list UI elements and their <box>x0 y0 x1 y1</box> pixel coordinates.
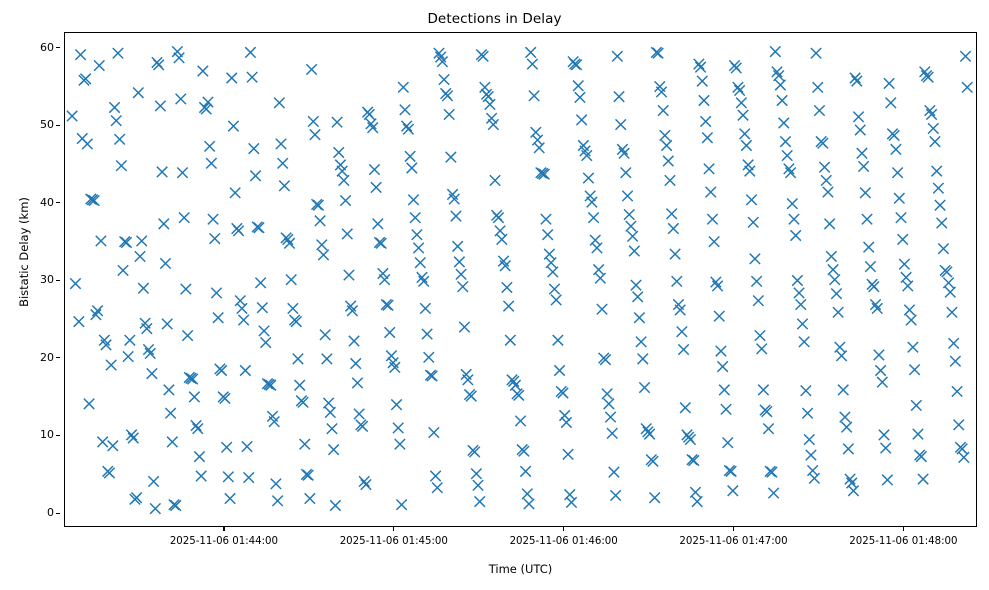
scatter-marker <box>894 193 904 203</box>
scatter-marker <box>906 315 916 325</box>
scatter-marker <box>137 236 147 246</box>
scatter-marker <box>403 124 413 134</box>
scatter-marker <box>626 221 636 231</box>
scatter-marker <box>373 219 383 229</box>
scatter-marker <box>658 105 668 115</box>
scatter-marker <box>417 272 427 282</box>
scatter-marker <box>746 195 756 205</box>
scatter-marker <box>429 427 439 437</box>
scatter-marker <box>189 392 199 402</box>
scatter-marker <box>605 412 615 422</box>
scatter-marker <box>339 175 349 185</box>
scatter-marker <box>785 167 795 177</box>
scatter-marker <box>118 265 128 275</box>
scatter-marker <box>113 48 123 58</box>
scatter-marker <box>804 434 814 444</box>
scatter-marker <box>813 82 823 92</box>
scatter-marker <box>143 344 153 354</box>
scatter-marker <box>531 127 541 137</box>
scatter-marker <box>249 143 259 153</box>
x-tick-mark <box>223 527 224 531</box>
scatter-marker <box>792 275 802 285</box>
scatter-marker <box>490 175 500 185</box>
scatter-marker <box>391 399 401 409</box>
scatter-marker <box>774 70 784 80</box>
x-axis-label: Time (UTC) <box>64 562 977 576</box>
scatter-marker <box>638 354 648 364</box>
scatter-marker <box>881 443 891 453</box>
scatter-marker <box>223 472 233 482</box>
scatter-marker <box>393 423 403 433</box>
scatter-marker <box>862 214 872 224</box>
scatter-marker <box>726 466 736 476</box>
scatter-marker <box>208 214 218 224</box>
scatter-marker <box>274 98 284 108</box>
scatter-marker <box>864 242 874 252</box>
scatter-marker <box>566 497 576 507</box>
scatter-marker <box>636 337 646 347</box>
scatter-marker <box>763 423 773 433</box>
scatter-marker <box>610 490 620 500</box>
scatter-marker <box>799 337 809 347</box>
scatter-marker <box>327 423 337 433</box>
scatter-marker <box>432 482 442 492</box>
scatter-marker <box>757 344 767 354</box>
scatter-marker <box>420 303 430 313</box>
scatter-marker <box>650 493 660 503</box>
scatter-marker <box>678 344 688 354</box>
scatter-marker <box>838 385 848 395</box>
scatter-marker <box>198 66 208 76</box>
scatter-marker <box>502 282 512 292</box>
scatter-marker <box>952 386 962 396</box>
scatter-marker <box>308 116 318 126</box>
scatter-marker <box>548 267 558 277</box>
scatter-marker <box>410 212 420 222</box>
scatter-marker <box>181 284 191 294</box>
scatter-marker <box>529 91 539 101</box>
scatter-marker <box>386 351 396 361</box>
scatter-marker <box>70 278 80 288</box>
scatter-marker <box>926 109 936 119</box>
scatter-marker <box>602 389 612 399</box>
y-axis-label: Bistatic Delay (km) <box>17 132 31 372</box>
scatter-marker <box>475 496 485 506</box>
scatter-marker <box>546 257 556 267</box>
scatter-marker <box>595 273 605 283</box>
scatter-marker <box>860 188 870 198</box>
scatter-marker <box>670 249 680 259</box>
scatter-marker <box>303 470 313 480</box>
scatter-marker <box>473 480 483 490</box>
scatter-marker <box>694 59 704 69</box>
scatter-marker <box>361 479 371 489</box>
scatter-marker <box>931 166 941 176</box>
scatter-marker <box>162 319 172 329</box>
scatter-marker <box>245 47 255 57</box>
scatter-marker <box>947 307 957 317</box>
scatter-marker <box>427 371 437 381</box>
scatter-marker <box>242 441 252 451</box>
scatter-marker <box>109 102 119 112</box>
scatter-marker <box>811 48 821 58</box>
y-tick-label: 20 <box>14 352 54 363</box>
scatter-marker <box>503 301 513 311</box>
scatter-marker <box>831 288 841 298</box>
scatter-marker <box>796 299 806 309</box>
y-tick-mark <box>56 513 60 514</box>
scatter-marker <box>405 151 415 161</box>
scatter-marker <box>320 330 330 340</box>
scatter-marker <box>909 365 919 375</box>
scatter-marker <box>573 81 583 91</box>
scatter-marker <box>415 257 425 267</box>
scatter-marker <box>145 348 155 358</box>
scatter-marker <box>668 223 678 233</box>
scatter-marker <box>148 476 158 486</box>
scatter-marker <box>385 327 395 337</box>
scatter-marker <box>634 313 644 323</box>
scatter-marker <box>836 351 846 361</box>
scatter-marker <box>247 72 257 82</box>
scatter-marker <box>305 493 315 503</box>
scatter-marker <box>768 488 778 498</box>
y-tick-mark <box>56 280 60 281</box>
scatter-marker <box>74 316 84 326</box>
scatter-marker <box>789 214 799 224</box>
scatter-marker <box>323 398 333 408</box>
scatter-marker <box>787 198 797 208</box>
scatter-marker <box>627 231 637 241</box>
scatter-marker <box>830 275 840 285</box>
scatter-marker <box>700 116 710 126</box>
scatter-marker <box>349 336 359 346</box>
scatter-marker <box>918 474 928 484</box>
scatter-marker <box>717 361 727 371</box>
x-tick-label: 2025-11-06 01:46:00 <box>479 536 649 548</box>
y-tick-mark <box>56 357 60 358</box>
scatter-marker <box>629 246 639 256</box>
scatter-marker <box>92 306 102 316</box>
scatter-marker <box>563 449 573 459</box>
matplotlib-figure: Detections in Delay Bistatic Delay (km) … <box>0 0 989 590</box>
scatter-marker <box>840 412 850 422</box>
y-tick-label: 40 <box>14 197 54 208</box>
scatter-marker <box>524 499 534 509</box>
scatter-marker <box>369 164 379 174</box>
scatter-marker <box>960 51 970 61</box>
scatter-marker <box>933 183 943 193</box>
scatter-marker <box>237 303 247 313</box>
scatter-marker <box>485 99 495 109</box>
scatter-marker <box>459 322 469 332</box>
scatter-marker <box>452 241 462 251</box>
scatter-marker <box>801 385 811 395</box>
scatter-marker <box>612 51 622 61</box>
y-tick-label: 50 <box>14 119 54 130</box>
scatter-marker <box>590 235 600 245</box>
scatter-marker <box>714 311 724 321</box>
scatter-marker <box>418 276 428 286</box>
scatter-marker <box>904 305 914 315</box>
scatter-marker <box>194 451 204 461</box>
x-tick-mark <box>393 527 394 531</box>
scatter-marker <box>96 236 106 246</box>
scatter-marker <box>306 64 316 74</box>
scatter-marker <box>542 230 552 240</box>
scatter-marker <box>692 496 702 506</box>
scatter-marker <box>471 468 481 478</box>
scatter-marker <box>633 292 643 302</box>
scatter-marker <box>823 187 833 197</box>
scatter-marker <box>534 143 544 153</box>
scatter-marker <box>740 129 750 139</box>
scatter-marker <box>126 430 136 440</box>
scatter-marker <box>412 230 422 240</box>
scatter-marker <box>875 365 885 375</box>
scatter-marker <box>850 73 860 83</box>
scatter-marker <box>278 158 288 168</box>
scatter-marker <box>571 60 581 70</box>
scatter-marker <box>954 420 964 430</box>
scatter-marker <box>279 181 289 191</box>
scatter-marker <box>872 303 882 313</box>
scatter-marker <box>176 94 186 104</box>
scatter-marker <box>332 117 342 127</box>
y-tick-label: 0 <box>14 507 54 518</box>
scatter-marker <box>959 452 969 462</box>
scatter-marker <box>413 243 423 253</box>
scatter-marker <box>424 352 434 362</box>
scatter-marker <box>576 115 586 125</box>
scatter-marker <box>641 423 651 433</box>
scatter-marker <box>711 277 721 287</box>
scatter-marker <box>938 243 948 253</box>
scatter-marker <box>84 399 94 409</box>
scatter-marker <box>886 98 896 108</box>
scatter-marker <box>690 487 700 497</box>
scatter-marker <box>928 123 938 133</box>
scatter-marker <box>702 133 712 143</box>
scatter-marker <box>286 275 296 285</box>
y-tick-mark <box>56 47 60 48</box>
scatter-marker <box>653 48 663 58</box>
scatter-marker <box>716 346 726 356</box>
scatter-marker <box>660 130 670 140</box>
scatter-marker <box>622 191 632 201</box>
y-tick-mark <box>56 435 60 436</box>
scatter-marker <box>157 167 167 177</box>
scatter-marker <box>616 119 626 129</box>
scatter-marker <box>383 300 393 310</box>
scatter-marker <box>300 439 310 449</box>
scatter-marker <box>665 175 675 185</box>
scatter-marker <box>950 356 960 366</box>
scatter-marker <box>758 385 768 395</box>
scatter-marker <box>962 82 972 92</box>
scatter-marker <box>177 167 187 177</box>
scatter-marker <box>661 140 671 150</box>
scatter-marker <box>114 134 124 144</box>
scatter-marker <box>400 105 410 115</box>
scatter-marker <box>741 140 751 150</box>
scatter-marker <box>532 135 542 145</box>
scatter-marker <box>680 403 690 413</box>
scatter-marker <box>845 474 855 484</box>
scatter-marker <box>565 489 575 499</box>
scatter-marker <box>814 105 824 115</box>
scatter-marker <box>446 152 456 162</box>
x-tick-mark <box>563 527 564 531</box>
scatter-marker <box>505 335 515 345</box>
scatter-marker <box>334 147 344 157</box>
scatter-marker <box>395 439 405 449</box>
scatter-marker <box>284 238 294 248</box>
y-tick-label: 10 <box>14 429 54 440</box>
scatter-marker <box>179 212 189 222</box>
scatter-marker <box>704 164 714 174</box>
scatter-marker <box>728 486 738 496</box>
scatter-marker <box>697 76 707 86</box>
scatter-marker <box>67 111 77 121</box>
scatter-marker <box>592 243 602 253</box>
scatter-marker <box>755 330 765 340</box>
scatter-marker <box>609 467 619 477</box>
scatter-marker <box>116 160 126 170</box>
scatter-marker <box>721 404 731 414</box>
scatter-marker <box>458 282 468 292</box>
scatter-marker <box>855 125 865 135</box>
scatter-marker <box>709 237 719 247</box>
scatter-marker <box>159 219 169 229</box>
scatter-marker <box>819 162 829 172</box>
scatter-marker <box>165 408 175 418</box>
scatter-marker <box>225 493 235 503</box>
scatter-marker <box>559 410 569 420</box>
scatter-marker <box>821 175 831 185</box>
scatter-marker <box>689 455 699 465</box>
scatter-marker <box>322 354 332 364</box>
scatter-marker <box>826 251 836 261</box>
scatter-marker <box>898 234 908 244</box>
scatter-marker <box>639 382 649 392</box>
scatter-marker <box>541 214 551 224</box>
scatter-marker <box>911 400 921 410</box>
scatter-marker <box>408 195 418 205</box>
scatter-marker <box>318 250 328 260</box>
scatter-marker <box>430 471 440 481</box>
scatter-marker <box>607 428 617 438</box>
scatter-marker <box>407 163 417 173</box>
scatter-marker <box>288 303 298 313</box>
scatter-marker <box>828 264 838 274</box>
scatter-marker <box>706 187 716 197</box>
scatter-marker <box>806 450 816 460</box>
plot-area <box>64 32 977 527</box>
scatter-marker <box>583 173 593 183</box>
scatter-marker <box>238 315 248 325</box>
scatter-marker <box>930 136 940 146</box>
scatter-marker <box>734 85 744 95</box>
scatter-marker <box>575 92 585 102</box>
scatter-marker <box>908 342 918 352</box>
scatter-marker <box>111 115 121 125</box>
scatter-marker <box>456 269 466 279</box>
y-tick-mark <box>56 125 60 126</box>
scatter-marker <box>790 230 800 240</box>
scatter-marker <box>376 238 386 248</box>
scatter-marker <box>213 313 223 323</box>
x-tick-mark <box>733 527 734 531</box>
scatter-marker <box>272 496 282 506</box>
scatter-marker <box>204 141 214 151</box>
scatter-marker <box>848 486 858 496</box>
scatter-marker <box>515 416 525 426</box>
scatter-marker <box>125 335 135 345</box>
scatter-marker <box>396 500 406 510</box>
scatter-marker <box>712 281 722 291</box>
scatter-marker <box>227 73 237 83</box>
scatter-marker <box>751 276 761 286</box>
scatter-marker <box>210 233 220 243</box>
x-tick-label: 2025-11-06 01:48:00 <box>818 536 988 548</box>
scatter-marker <box>925 105 935 115</box>
scatter-marker <box>879 430 889 440</box>
scatter-marker <box>454 257 464 267</box>
page-title: Detections in Delay <box>0 11 989 27</box>
scatter-marker <box>920 67 930 77</box>
scatter-marker <box>160 258 170 268</box>
scatter-marker <box>833 307 843 317</box>
scatter-marker <box>228 121 238 131</box>
x-tick-label: 2025-11-06 01:47:00 <box>649 536 819 548</box>
scatter-marker <box>497 234 507 244</box>
scatter-marker <box>784 164 794 174</box>
scatter-marker <box>794 288 804 298</box>
y-tick-label: 30 <box>14 274 54 285</box>
scatter-marker <box>948 338 958 348</box>
scatter-marker <box>597 304 607 314</box>
scatter-marker <box>797 319 807 329</box>
scatter-marker <box>857 148 867 158</box>
scatter-marker <box>398 82 408 92</box>
x-tick-label: 2025-11-06 01:44:00 <box>139 536 309 548</box>
scatter-marker <box>164 385 174 395</box>
scatter-marker <box>317 240 327 250</box>
scatter-marker <box>874 350 884 360</box>
scatter-marker <box>782 150 792 160</box>
scatter-marker <box>588 212 598 222</box>
scatter-marker <box>666 209 676 219</box>
scatter-marker <box>943 278 953 288</box>
scatter-marker <box>368 122 378 132</box>
scatter-marker <box>824 219 834 229</box>
scatter-marker <box>753 295 763 305</box>
scatter-marker <box>135 251 145 261</box>
scatter-marker <box>780 136 790 146</box>
scatter-marker <box>123 351 133 361</box>
y-tick-mark <box>56 202 60 203</box>
scatter-marker <box>359 476 369 486</box>
scatter-marker <box>439 74 449 84</box>
scatter-marker <box>527 59 537 69</box>
scatter-marker <box>133 88 143 98</box>
scatter-marker <box>733 82 743 92</box>
scatter-marker <box>614 91 624 101</box>
scatter-marker <box>748 217 758 227</box>
scatter-marker <box>750 254 760 264</box>
scatter-series <box>67 46 973 513</box>
